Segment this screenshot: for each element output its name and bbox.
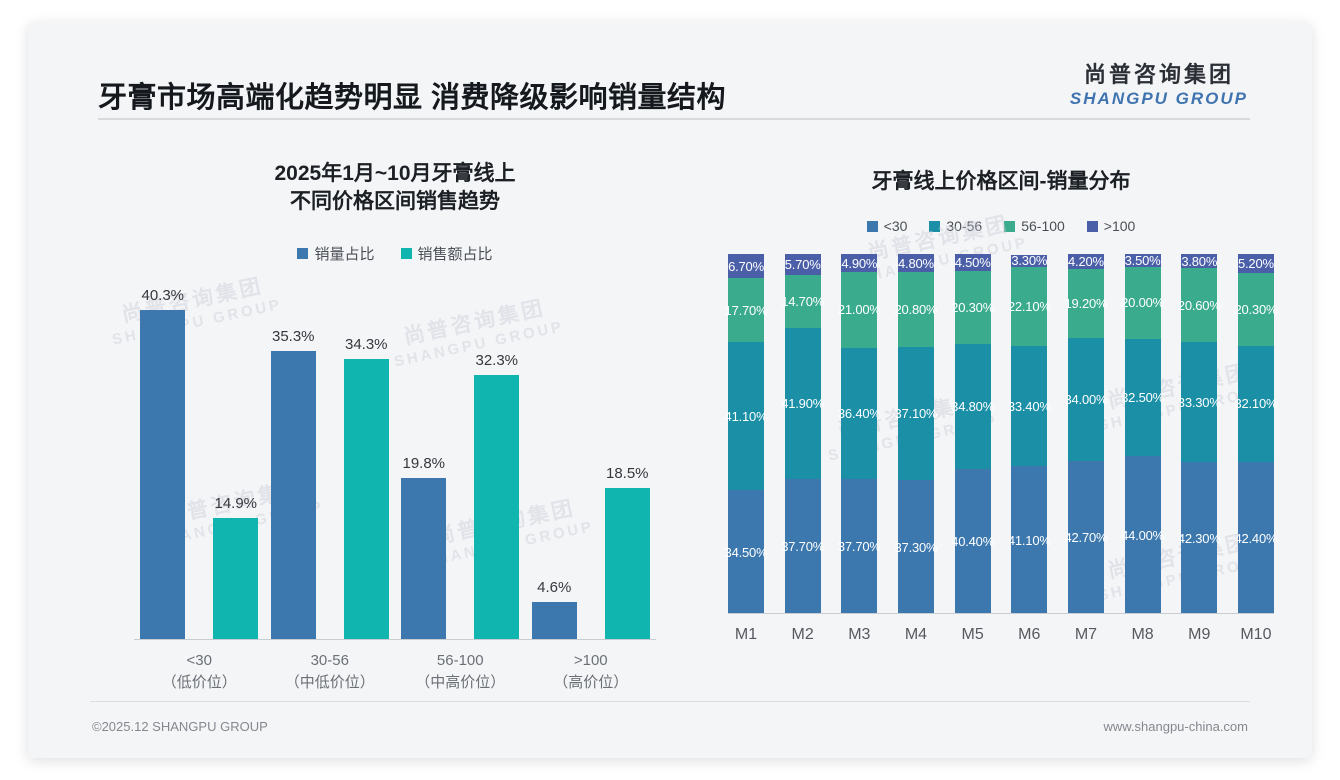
stack-segment[interactable]: 42.40% bbox=[1238, 462, 1274, 615]
bar[interactable] bbox=[271, 351, 316, 640]
stack-segment[interactable]: 42.30% bbox=[1181, 462, 1217, 614]
left-chart-x-axis bbox=[134, 639, 656, 640]
stack-segment[interactable]: 20.00% bbox=[1125, 267, 1161, 339]
stack-segment-label: 17.70% bbox=[725, 303, 768, 318]
stack-segment[interactable]: 19.20% bbox=[1068, 269, 1104, 338]
slide: 牙膏市场高端化趋势明显 消费降级影响销量结构 尚普咨询集团 SHANGPU GR… bbox=[28, 22, 1312, 758]
x-axis-tick-label: M3 bbox=[841, 626, 877, 644]
stack-segment-label: 20.30% bbox=[951, 300, 994, 315]
stack-segment[interactable]: 44.00% bbox=[1125, 456, 1161, 614]
stack-segment-label: 32.10% bbox=[1234, 396, 1277, 411]
stack-segment[interactable]: 34.50% bbox=[728, 490, 764, 614]
stack-segment[interactable]: 41.10% bbox=[1011, 466, 1047, 614]
legend-label: 56-100 bbox=[1021, 218, 1065, 234]
x-axis-tick-label: M5 bbox=[955, 626, 991, 644]
stack-segment-label: 42.30% bbox=[1178, 531, 1221, 546]
bar-column[interactable]: 32.3% bbox=[474, 280, 519, 640]
bar-group: 40.3%14.9% bbox=[134, 280, 265, 640]
stack-segment[interactable]: 3.30% bbox=[1011, 255, 1047, 267]
stack-segment-label: 37.70% bbox=[781, 539, 824, 554]
stack-segment[interactable]: 34.80% bbox=[955, 344, 991, 469]
bar-group: 4.6%18.5% bbox=[526, 280, 657, 640]
x-axis-tick-label: M8 bbox=[1125, 626, 1161, 644]
bar-value-label: 34.3% bbox=[345, 336, 388, 353]
stack-segment-label: 37.30% bbox=[895, 540, 938, 555]
logo-chinese-text: 尚普咨询集团 bbox=[1070, 64, 1248, 86]
stack-segment-label: 33.40% bbox=[1008, 399, 1051, 414]
legend-item-revenue-share[interactable]: 销售额占比 bbox=[401, 243, 493, 264]
bar[interactable] bbox=[474, 375, 519, 639]
stack-segment[interactable]: 40.40% bbox=[955, 469, 991, 614]
header-divider bbox=[98, 118, 1250, 120]
stack-segment-label: 22.10% bbox=[1008, 299, 1051, 314]
stack-segment-label: 41.10% bbox=[1008, 533, 1051, 548]
stacked-bar[interactable]: 5.70%14.70%41.90%37.70% bbox=[785, 254, 821, 614]
bar[interactable] bbox=[140, 310, 185, 640]
bar[interactable] bbox=[605, 488, 650, 639]
bar-group: 35.3%34.3% bbox=[265, 280, 396, 640]
stack-segment[interactable]: 37.70% bbox=[841, 479, 877, 615]
stack-segment[interactable]: 42.70% bbox=[1068, 461, 1104, 615]
stacked-bar[interactable]: 3.80%20.60%33.30%42.30% bbox=[1181, 254, 1217, 614]
legend-label: 30-56 bbox=[946, 218, 982, 234]
stack-segment-label: 42.70% bbox=[1064, 530, 1107, 545]
left-chart-plot-area: 尚普咨询集团 SHANGPU GROUP 尚普咨询集团 SHANGPU GROU… bbox=[90, 280, 700, 640]
bar-value-label: 19.8% bbox=[402, 455, 445, 472]
stacked-bar[interactable]: 4.20%19.20%34.00%42.70% bbox=[1068, 254, 1104, 614]
bar[interactable] bbox=[344, 359, 389, 640]
stack-segment[interactable]: 21.00% bbox=[841, 272, 877, 348]
legend-item-100[interactable]: >100 bbox=[1087, 218, 1136, 234]
bar-column[interactable]: 35.3% bbox=[271, 280, 316, 640]
stacked-bar[interactable]: 5.20%20.30%32.10%42.40% bbox=[1238, 254, 1274, 614]
bar-column[interactable]: 19.8% bbox=[401, 280, 446, 640]
legend-swatch bbox=[867, 221, 878, 232]
right-chart-x-labels: M1M2M3M4M5M6M7M8M9M10 bbox=[714, 626, 1288, 644]
stack-segment[interactable]: 4.50% bbox=[955, 254, 991, 270]
stack-segment-label: 36.40% bbox=[838, 406, 881, 421]
right-chart-panel: 牙膏线上价格区间-销量分布 <3030-5656-100>100 尚普咨询集团 … bbox=[714, 140, 1288, 700]
stack-segment[interactable]: 4.90% bbox=[841, 254, 877, 272]
bar-value-label: 14.9% bbox=[214, 495, 257, 512]
x-axis-tick-label: M7 bbox=[1068, 626, 1104, 644]
bar[interactable] bbox=[532, 602, 577, 640]
logo-english-text: SHANGPU GROUP bbox=[1070, 90, 1248, 107]
stack-segment[interactable]: 5.20% bbox=[1238, 254, 1274, 273]
stack-segment[interactable]: 20.30% bbox=[1238, 273, 1274, 346]
stack-segment-label: 34.00% bbox=[1064, 392, 1107, 407]
stack-segment[interactable]: 37.30% bbox=[898, 480, 934, 614]
stack-segment-label: 5.70% bbox=[785, 257, 821, 272]
stack-segment[interactable]: 37.70% bbox=[785, 479, 821, 615]
stacked-bar[interactable]: 4.80%20.80%37.10%37.30% bbox=[898, 254, 934, 614]
stack-segment[interactable]: 33.40% bbox=[1011, 346, 1047, 466]
stack-segment[interactable]: 5.70% bbox=[785, 254, 821, 275]
legend-swatch-volume-share bbox=[297, 248, 308, 259]
left-chart-title: 2025年1月~10月牙膏线上 不同价格区间销售趋势 bbox=[90, 160, 700, 217]
stack-segment[interactable]: 41.90% bbox=[785, 328, 821, 479]
stack-segment-label: 4.20% bbox=[1068, 254, 1104, 269]
legend-item-30-56[interactable]: 30-56 bbox=[929, 218, 982, 234]
x-axis-tick-label: <30（低价位） bbox=[134, 650, 265, 695]
bar-value-label: 4.6% bbox=[537, 579, 571, 596]
right-chart-legend: <3030-5656-100>100 bbox=[714, 218, 1288, 234]
stack-segment-label: 6.70% bbox=[728, 259, 764, 274]
footer-website[interactable]: www.shangpu-china.com bbox=[1103, 719, 1248, 734]
page-title: 牙膏市场高端化趋势明显 消费降级影响销量结构 bbox=[98, 74, 726, 116]
bar-column[interactable]: 4.6% bbox=[532, 280, 577, 640]
left-chart-legend: 销量占比 销售额占比 bbox=[90, 243, 700, 264]
stack-segment[interactable]: 32.50% bbox=[1125, 339, 1161, 456]
legend-label-volume-share: 销量占比 bbox=[314, 243, 374, 264]
stack-segment-label: 19.20% bbox=[1064, 296, 1107, 311]
x-axis-tick-label: 30-56（中低价位） bbox=[265, 650, 396, 695]
stack-segment[interactable]: 20.80% bbox=[898, 272, 934, 347]
stack-segment[interactable]: 41.10% bbox=[728, 342, 764, 490]
stack-segment-label: 34.80% bbox=[951, 399, 994, 414]
legend-item-volume-share[interactable]: 销量占比 bbox=[297, 243, 374, 264]
bar[interactable] bbox=[213, 518, 258, 640]
stack-segment[interactable]: 36.40% bbox=[841, 348, 877, 479]
stack-segment[interactable]: 6.70% bbox=[728, 254, 764, 278]
stack-segment-label: 4.90% bbox=[841, 256, 877, 271]
stack-segment[interactable]: 14.70% bbox=[785, 275, 821, 328]
left-chart-title-line2: 不同价格区间销售趋势 bbox=[90, 188, 700, 216]
x-axis-tick-label: 56-100（中高价位） bbox=[395, 650, 526, 695]
x-axis-tick-label: M9 bbox=[1181, 626, 1217, 644]
stacked-bar[interactable]: 3.50%20.00%32.50%44.00% bbox=[1125, 254, 1161, 614]
legend-label: >100 bbox=[1104, 218, 1136, 234]
legend-swatch bbox=[1004, 221, 1015, 232]
bar-value-label: 40.3% bbox=[141, 287, 184, 304]
stack-segment[interactable]: 22.10% bbox=[1011, 267, 1047, 347]
bar-value-label: 18.5% bbox=[606, 465, 649, 482]
footer-copyright: ©2025.12 SHANGPU GROUP bbox=[92, 719, 268, 734]
stack-segment-label: 20.60% bbox=[1178, 298, 1221, 313]
stack-segment-label: 41.10% bbox=[725, 409, 768, 424]
right-chart-plot-area: 尚普咨询集团 SHANGPU GROUP 尚普咨询集团 SHANGPU GROU… bbox=[714, 254, 1288, 614]
bar-value-label: 35.3% bbox=[272, 328, 315, 345]
stack-segment-label: 34.50% bbox=[725, 545, 768, 560]
legend-item-30[interactable]: <30 bbox=[867, 218, 908, 234]
stacked-bar[interactable]: 4.90%21.00%36.40%37.70% bbox=[841, 254, 877, 614]
stack-segment[interactable]: 37.10% bbox=[898, 347, 934, 481]
company-logo: 尚普咨询集团 SHANGPU GROUP bbox=[1070, 64, 1248, 107]
legend-label: <30 bbox=[884, 218, 908, 234]
legend-swatch-revenue-share bbox=[401, 248, 412, 259]
bar-column[interactable]: 40.3% bbox=[140, 280, 185, 640]
stacked-bar[interactable]: 6.70%17.70%41.10%34.50% bbox=[728, 254, 764, 614]
stack-segment-label: 20.30% bbox=[1234, 302, 1277, 317]
stack-segment[interactable]: 20.60% bbox=[1181, 268, 1217, 342]
stack-segment-label: 40.40% bbox=[951, 534, 994, 549]
stack-segment[interactable]: 34.00% bbox=[1068, 338, 1104, 460]
bar-column[interactable]: 34.3% bbox=[344, 280, 389, 640]
slide-header: 牙膏市场高端化趋势明显 消费降级影响销量结构 尚普咨询集团 SHANGPU GR… bbox=[28, 22, 1312, 118]
stack-segment-label: 4.50% bbox=[955, 255, 991, 270]
bar-group: 19.8%32.3% bbox=[395, 280, 526, 640]
x-axis-tick-label: M1 bbox=[728, 626, 764, 644]
legend-swatch bbox=[929, 221, 940, 232]
x-axis-tick-label: M6 bbox=[1011, 626, 1047, 644]
stack-segment[interactable]: 20.30% bbox=[955, 271, 991, 344]
bar-value-label: 32.3% bbox=[475, 352, 518, 369]
stack-segment[interactable]: 3.50% bbox=[1125, 254, 1161, 267]
x-axis-tick-label: M2 bbox=[785, 626, 821, 644]
stack-segment-label: 20.00% bbox=[1121, 295, 1164, 310]
bar[interactable] bbox=[401, 478, 446, 640]
right-chart-title: 牙膏线上价格区间-销量分布 bbox=[714, 168, 1288, 196]
stack-segment[interactable]: 32.10% bbox=[1238, 346, 1274, 462]
stack-segment-label: 42.40% bbox=[1234, 531, 1277, 546]
stack-segment-label: 21.00% bbox=[838, 302, 881, 317]
stack-segment-label: 5.20% bbox=[1238, 256, 1274, 271]
stack-segment-label: 41.90% bbox=[781, 396, 824, 411]
stack-segment-label: 3.80% bbox=[1181, 254, 1217, 269]
x-axis-tick-label: >100（高价位） bbox=[526, 650, 657, 695]
stack-segment[interactable]: 3.80% bbox=[1181, 254, 1217, 268]
stack-segment-label: 37.10% bbox=[895, 406, 938, 421]
legend-item-56-100[interactable]: 56-100 bbox=[1004, 218, 1065, 234]
stacked-bar[interactable]: 3.30%22.10%33.40%41.10% bbox=[1011, 254, 1047, 614]
stack-segment-label: 44.00% bbox=[1121, 528, 1164, 543]
stacked-bar[interactable]: 4.50%20.30%34.80%40.40% bbox=[955, 254, 991, 614]
legend-label-revenue-share: 销售额占比 bbox=[418, 243, 493, 264]
x-axis-tick-label: M10 bbox=[1238, 626, 1274, 644]
stack-segment-label: 14.70% bbox=[781, 294, 824, 309]
stack-segment[interactable]: 4.20% bbox=[1068, 254, 1104, 269]
stack-segment-label: 32.50% bbox=[1121, 390, 1164, 405]
left-chart-x-labels: <30（低价位）30-56（中低价位）56-100（中高价位）>100（高价位） bbox=[90, 650, 700, 695]
bar-column[interactable]: 18.5% bbox=[605, 280, 650, 640]
legend-swatch bbox=[1087, 221, 1098, 232]
stack-segment-label: 37.70% bbox=[838, 539, 881, 554]
stack-segment-label: 3.50% bbox=[1125, 253, 1161, 268]
stack-segment[interactable]: 33.30% bbox=[1181, 342, 1217, 462]
right-chart-x-axis bbox=[728, 613, 1274, 614]
bar-column[interactable]: 14.9% bbox=[213, 280, 258, 640]
footer-divider bbox=[90, 701, 1250, 702]
stack-segment-label: 33.30% bbox=[1178, 395, 1221, 410]
stack-segment-label: 20.80% bbox=[895, 302, 938, 317]
right-chart-stacks: 6.70%17.70%41.10%34.50%5.70%14.70%41.90%… bbox=[728, 254, 1274, 614]
left-chart-title-line1: 2025年1月~10月牙膏线上 bbox=[90, 160, 700, 188]
stack-segment[interactable]: 4.80% bbox=[898, 254, 934, 271]
left-chart-panel: 2025年1月~10月牙膏线上 不同价格区间销售趋势 销量占比 销售额占比 尚普… bbox=[90, 140, 700, 700]
stack-segment-label: 4.80% bbox=[898, 256, 934, 271]
left-chart-bar-groups: 40.3%14.9%35.3%34.3%19.8%32.3%4.6%18.5% bbox=[134, 280, 656, 640]
stack-segment[interactable]: 17.70% bbox=[728, 278, 764, 342]
x-axis-tick-label: M4 bbox=[898, 626, 934, 644]
